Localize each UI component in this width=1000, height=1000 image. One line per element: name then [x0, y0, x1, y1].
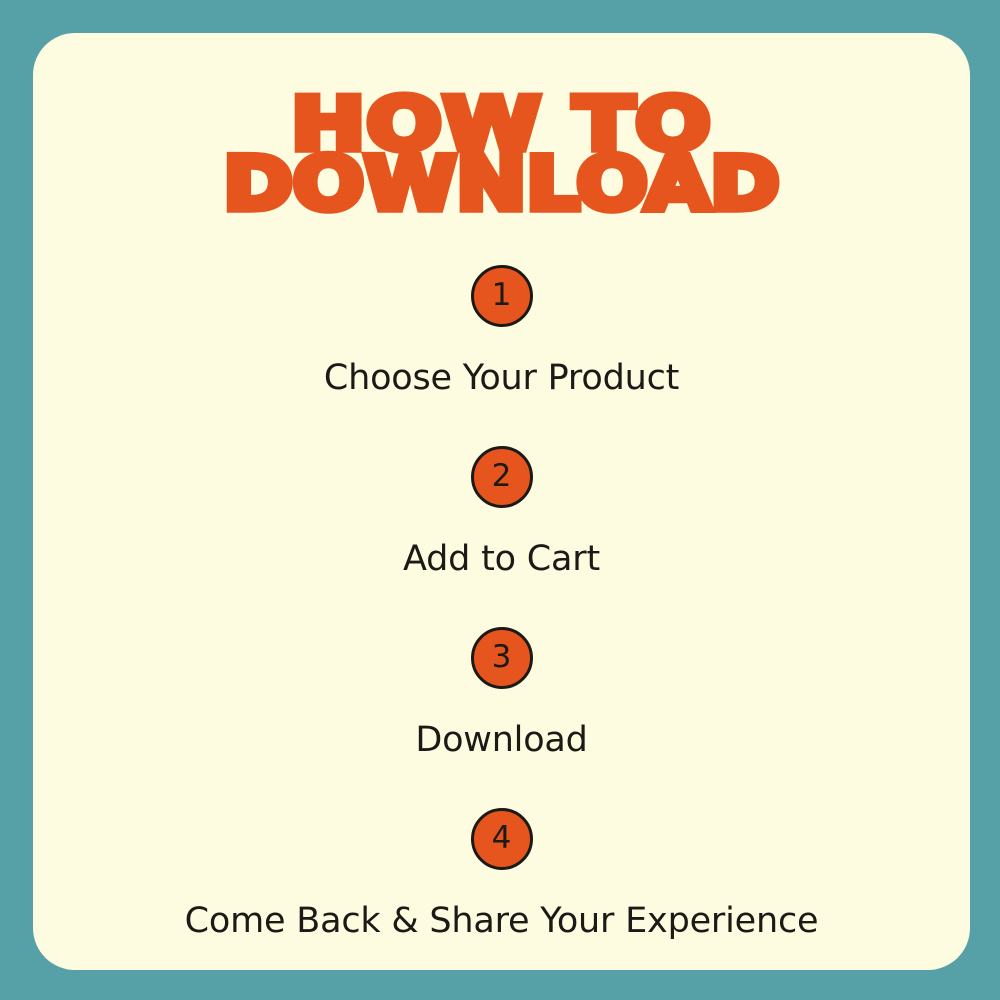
step-badge-1: 1	[471, 265, 533, 327]
spacer	[33, 508, 970, 542]
list-item: 2 Add to Cart	[33, 446, 970, 577]
step-label-4: Come Back & Share Your Experience	[33, 904, 970, 939]
step-badge-3: 3	[471, 627, 533, 689]
step-badge-2: 2	[471, 446, 533, 508]
spacer	[33, 327, 970, 361]
content-card: HOW TO DOWNLOAD 1 Choose Your Product 2 …	[33, 33, 970, 970]
page-title: HOW TO DOWNLOAD	[33, 95, 970, 211]
step-label-1: Choose Your Product	[33, 361, 970, 396]
step-label-2: Add to Cart	[33, 542, 970, 577]
step-number-3: 3	[492, 642, 512, 673]
step-badge-4: 4	[471, 808, 533, 870]
step-number-4: 4	[492, 823, 512, 854]
list-item: 4 Come Back & Share Your Experience	[33, 808, 970, 939]
spacer	[33, 870, 970, 904]
spacer	[33, 577, 970, 627]
spacer	[33, 758, 970, 808]
infographic-canvas: HOW TO DOWNLOAD 1 Choose Your Product 2 …	[0, 0, 1000, 1000]
steps-list: 1 Choose Your Product 2 Add to Cart 3	[33, 265, 970, 939]
list-item: 3 Download	[33, 627, 970, 758]
spacer	[33, 396, 970, 446]
list-item: 1 Choose Your Product	[33, 265, 970, 396]
spacer	[33, 689, 970, 723]
step-number-1: 1	[492, 280, 512, 311]
step-label-3: Download	[33, 723, 970, 758]
title-line-download: DOWNLOAD	[0, 154, 1000, 216]
step-number-2: 2	[492, 461, 512, 492]
